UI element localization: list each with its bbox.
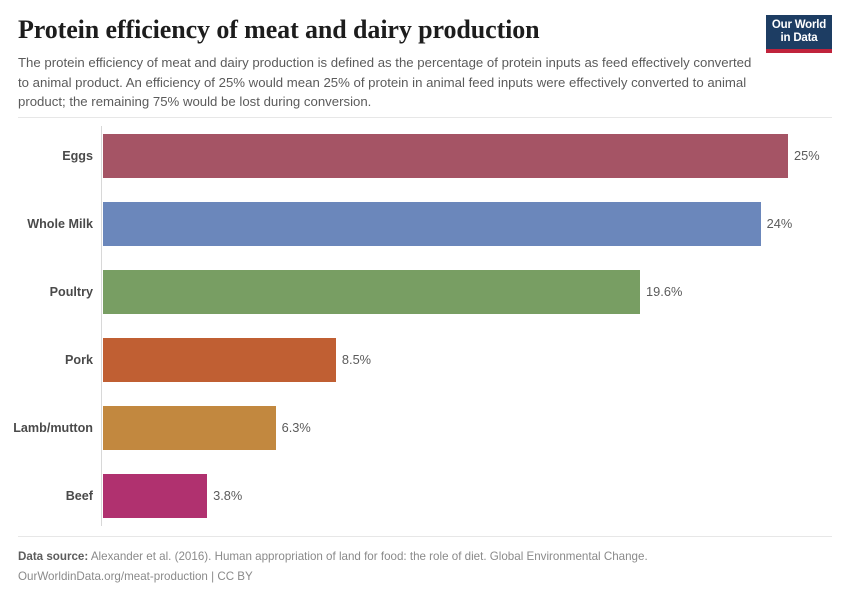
bar-value-label: 6.3% bbox=[282, 406, 311, 450]
bar-row: Lamb/mutton6.3% bbox=[0, 406, 850, 450]
bar-chart: Eggs25%Whole Milk24%Poultry19.6%Pork8.5%… bbox=[0, 122, 850, 532]
bar-value-label: 19.6% bbox=[646, 270, 682, 314]
bar[interactable] bbox=[103, 202, 761, 246]
bar-row: Eggs25% bbox=[0, 134, 850, 178]
logo-line-2: in Data bbox=[766, 32, 832, 45]
bar-category-label: Eggs bbox=[0, 134, 93, 178]
chart-subtitle: The protein efficiency of meat and dairy… bbox=[18, 53, 763, 112]
bar-category-label: Poultry bbox=[0, 270, 93, 314]
data-source-line: Data source: Alexander et al. (2016). Hu… bbox=[18, 548, 832, 566]
bar-category-label: Whole Milk bbox=[0, 202, 93, 246]
logo-line-1: Our World bbox=[766, 19, 832, 32]
bar-row: Beef3.8% bbox=[0, 474, 850, 518]
y-axis-line bbox=[101, 126, 102, 526]
chart-footer: Data source: Alexander et al. (2016). Hu… bbox=[18, 548, 832, 586]
header-divider bbox=[18, 117, 832, 118]
bar[interactable] bbox=[103, 474, 207, 518]
bar-value-label: 3.8% bbox=[213, 474, 242, 518]
bar-value-label: 25% bbox=[794, 134, 820, 178]
bar[interactable] bbox=[103, 270, 640, 314]
bar-row: Poultry19.6% bbox=[0, 270, 850, 314]
footer-divider bbox=[18, 536, 832, 537]
bar[interactable] bbox=[103, 338, 336, 382]
bar-row: Whole Milk24% bbox=[0, 202, 850, 246]
bar[interactable] bbox=[103, 406, 276, 450]
bar-category-label: Lamb/mutton bbox=[0, 406, 93, 450]
page-title: Protein efficiency of meat and dairy pro… bbox=[18, 14, 758, 46]
bar-value-label: 24% bbox=[767, 202, 793, 246]
data-source-text: Alexander et al. (2016). Human appropria… bbox=[91, 550, 648, 563]
chart-header: Protein efficiency of meat and dairy pro… bbox=[0, 0, 850, 112]
bar[interactable] bbox=[103, 134, 788, 178]
our-world-in-data-logo[interactable]: Our World in Data bbox=[766, 15, 832, 53]
data-source-label: Data source: bbox=[18, 550, 88, 563]
bar-category-label: Beef bbox=[0, 474, 93, 518]
bar-row: Pork8.5% bbox=[0, 338, 850, 382]
bar-category-label: Pork bbox=[0, 338, 93, 382]
bar-value-label: 8.5% bbox=[342, 338, 371, 382]
attribution-line[interactable]: OurWorldinData.org/meat-production | CC … bbox=[18, 568, 832, 586]
